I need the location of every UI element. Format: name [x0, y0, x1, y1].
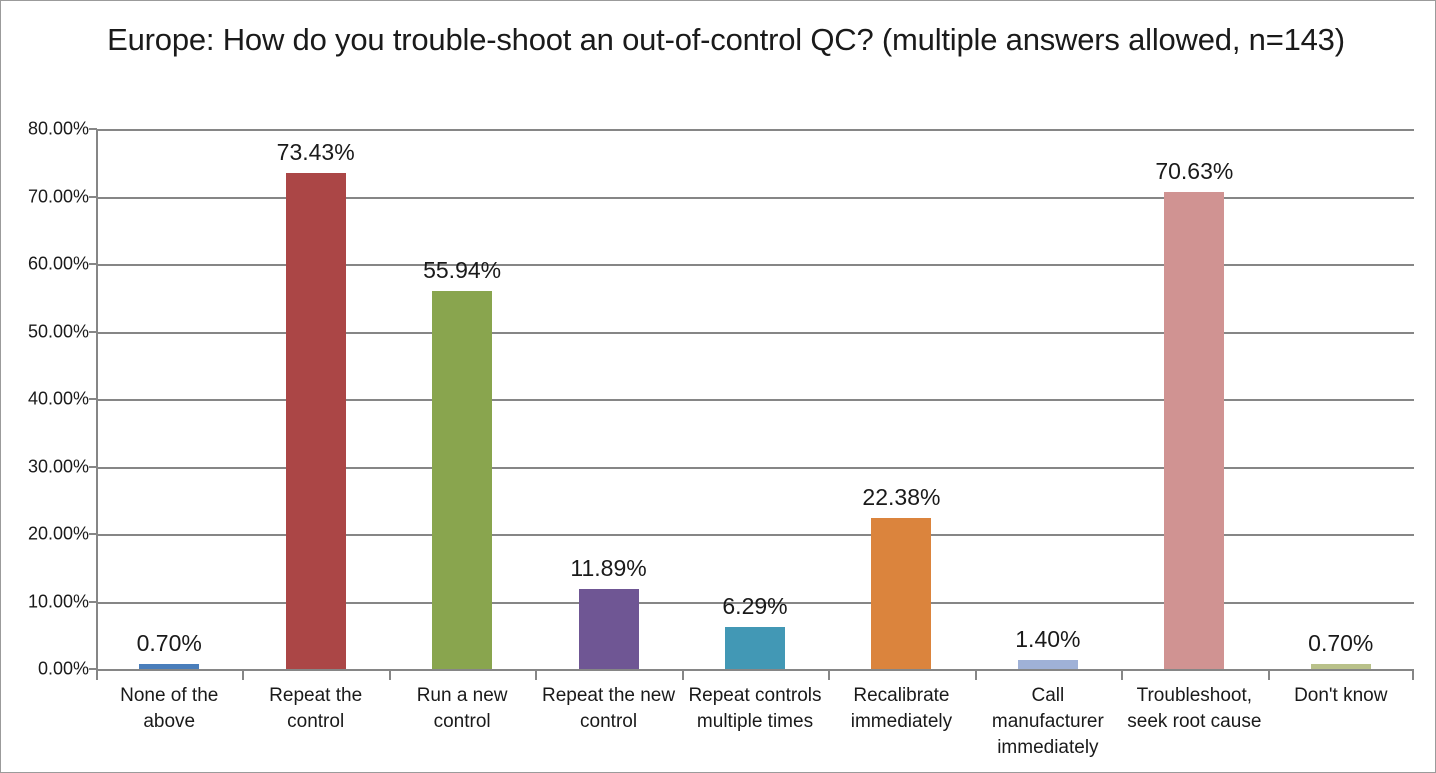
x-category-label-line: Repeat the new — [537, 683, 679, 709]
x-category-label-line: control — [244, 709, 386, 735]
x-category-label-line: manufacturer — [977, 709, 1119, 735]
chart-container: Europe: How do you trouble-shoot an out-… — [0, 0, 1436, 773]
y-tick-label: 70.00% — [5, 186, 89, 207]
x-category-label-line: Troubleshoot, — [1123, 683, 1265, 709]
x-category-label: Repeat controlsmultiple times — [684, 683, 826, 735]
y-tick-label: 50.00% — [5, 321, 89, 342]
bar-value-label: 1.40% — [1015, 626, 1080, 653]
x-axis-ticks — [96, 671, 1416, 683]
bar[interactable] — [1018, 660, 1078, 669]
x-tick-mark — [96, 671, 98, 680]
chart-title: Europe: How do you trouble-shoot an out-… — [106, 19, 1346, 61]
bar[interactable] — [1164, 192, 1224, 669]
x-category-label-line: control — [537, 709, 679, 735]
bar[interactable] — [139, 664, 199, 669]
x-tick-mark — [682, 671, 684, 680]
x-category-label-line: immediately — [977, 735, 1119, 761]
x-category-label: Don't know — [1270, 683, 1412, 709]
x-category-label-line: above — [98, 709, 240, 735]
bar-value-label: 0.70% — [137, 630, 202, 657]
bar-value-label: 73.43% — [277, 139, 355, 166]
x-category-label-line: immediately — [830, 709, 972, 735]
x-category-label-line: Don't know — [1270, 683, 1412, 709]
x-category-label: Recalibrateimmediately — [830, 683, 972, 735]
y-tick-label: 30.00% — [5, 456, 89, 477]
bar-value-label: 55.94% — [423, 257, 501, 284]
x-tick-mark — [828, 671, 830, 680]
x-category-label: Repeat the newcontrol — [537, 683, 679, 735]
x-category-label: None of theabove — [98, 683, 240, 735]
y-tick-label: 20.00% — [5, 524, 89, 545]
x-tick-mark — [1268, 671, 1270, 680]
bar[interactable] — [725, 627, 785, 669]
y-tick-label: 80.00% — [5, 119, 89, 140]
x-tick-mark — [1121, 671, 1123, 680]
bar-value-label: 22.38% — [862, 484, 940, 511]
bar-value-label: 11.89% — [570, 555, 646, 582]
bar[interactable] — [286, 173, 346, 669]
x-axis-labels: None of theaboveRepeat thecontrolRun a n… — [96, 683, 1414, 771]
y-tick-label: 10.00% — [5, 591, 89, 612]
x-category-label-line: Repeat controls — [684, 683, 826, 709]
y-tick-label: 60.00% — [5, 254, 89, 275]
x-category-label-line: None of the — [98, 683, 240, 709]
x-category-label-line: Run a new — [391, 683, 533, 709]
x-tick-mark — [389, 671, 391, 680]
x-category-label-line: Repeat the — [244, 683, 386, 709]
y-tick-label: 0.00% — [5, 659, 89, 680]
plot-area: 0.70%73.43%55.94%11.89%6.29%22.38%1.40%7… — [96, 129, 1414, 669]
bar-value-label: 70.63% — [1155, 158, 1233, 185]
bar-value-label: 0.70% — [1308, 630, 1373, 657]
x-category-label: Run a newcontrol — [391, 683, 533, 735]
bar[interactable] — [432, 291, 492, 669]
x-category-label: Callmanufacturerimmediately — [977, 683, 1119, 761]
x-tick-mark — [535, 671, 537, 680]
x-category-label-line: Call — [977, 683, 1119, 709]
bar[interactable] — [579, 589, 639, 669]
x-category-label-line: Recalibrate — [830, 683, 972, 709]
y-tick-label: 40.00% — [5, 389, 89, 410]
x-category-label: Repeat thecontrol — [244, 683, 386, 735]
x-category-label-line: seek root cause — [1123, 709, 1265, 735]
bar[interactable] — [1311, 664, 1371, 669]
gridline — [96, 129, 1414, 131]
x-tick-mark — [242, 671, 244, 680]
bar[interactable] — [871, 518, 931, 669]
x-category-label: Troubleshoot,seek root cause — [1123, 683, 1265, 735]
bar-value-label: 6.29% — [722, 593, 787, 620]
x-tick-mark — [1412, 671, 1414, 680]
x-category-label-line: multiple times — [684, 709, 826, 735]
x-tick-mark — [975, 671, 977, 680]
x-category-label-line: control — [391, 709, 533, 735]
y-axis: 0.00%10.00%20.00%30.00%40.00%50.00%60.00… — [1, 129, 89, 669]
